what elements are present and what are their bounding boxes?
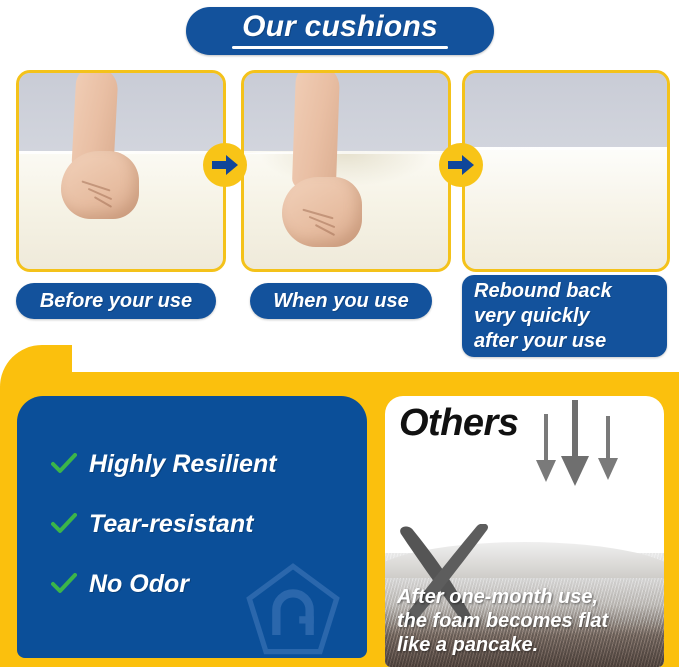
feature-label: Tear-resistant — [89, 512, 253, 537]
features-panel: Highly Resilient Tear-resistant No Odor — [17, 396, 367, 658]
check-icon — [51, 573, 81, 595]
photo-arm — [292, 70, 340, 190]
photo-foam-edge — [244, 151, 448, 154]
feature-item: Tear-resistant — [51, 494, 355, 554]
feature-label: No Odor — [89, 572, 189, 597]
step-caption-before: Before your use — [16, 283, 216, 319]
step-caption-line: after your use — [474, 329, 606, 354]
features-list: Highly Resilient Tear-resistant No Odor — [51, 434, 355, 614]
page-title: Our cushions — [242, 12, 438, 42]
page-title-pill: Our cushions — [186, 7, 494, 55]
step-caption-line: Rebound back — [474, 279, 612, 304]
title-underline — [232, 46, 448, 49]
infographic-root: Our cushions — [0, 0, 679, 667]
photo-background-wall — [465, 73, 667, 159]
photo-fist — [61, 151, 139, 219]
others-caption-line: like a pancake. — [397, 633, 656, 657]
step-caption-line: very quickly — [474, 304, 590, 329]
photo-foam-surface — [465, 147, 667, 269]
down-arrow-icon — [597, 416, 619, 482]
step-caption-during: When you use — [250, 283, 432, 319]
step-caption-after: Rebound back very quickly after your use — [462, 275, 667, 357]
others-caption-line: the foam becomes flat — [397, 609, 656, 633]
others-comparison-card: Others After one-month use, the foam bec… — [385, 396, 664, 667]
step-image-before — [16, 70, 226, 272]
down-arrow-icon — [561, 400, 589, 488]
check-icon — [51, 453, 81, 475]
others-caption: After one-month use, the foam becomes fl… — [397, 585, 656, 657]
step-image-after — [462, 70, 670, 272]
down-arrow-icon — [535, 414, 557, 484]
step-caption-label: Before your use — [40, 291, 192, 311]
yellow-band-corner-notch — [0, 340, 72, 388]
photo-background-wall — [244, 73, 448, 159]
step-image-during — [241, 70, 451, 272]
others-caption-line: After one-month use, — [397, 585, 656, 609]
photo-background-wall — [19, 73, 223, 159]
step-arrow-icon — [439, 143, 483, 187]
feature-item: No Odor — [51, 554, 355, 614]
check-icon — [51, 513, 81, 535]
step-caption-label: When you use — [273, 291, 409, 311]
feature-label: Highly Resilient — [89, 452, 277, 477]
feature-item: Highly Resilient — [51, 434, 355, 494]
photo-fist — [282, 177, 362, 247]
photo-foam-edge — [465, 147, 667, 150]
others-title: Others — [399, 404, 518, 442]
step-arrow-icon — [203, 143, 247, 187]
